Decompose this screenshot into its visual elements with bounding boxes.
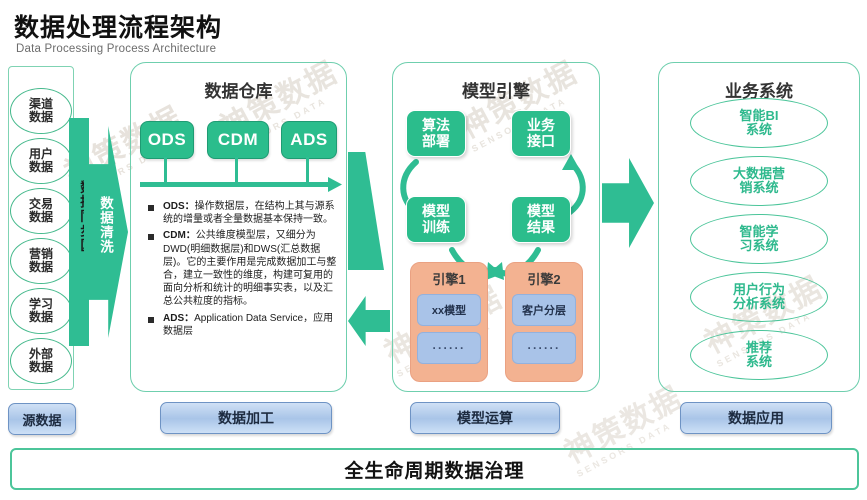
bullet-square-icon — [148, 317, 154, 323]
warehouse-layer-ads[interactable]: ADS — [281, 121, 337, 159]
business-system-3[interactable]: 用户行为分析系统 — [690, 272, 828, 322]
bullet-text: ODS：操作数据层，在结构上其与源系统的增量或者全量数据基本保持一致。 — [163, 200, 339, 226]
connector-line — [164, 157, 167, 184]
warehouse-layer-label: CDM — [218, 130, 258, 150]
engine-card-item[interactable]: ······ — [417, 332, 481, 364]
engine-step-model-result[interactable]: 模型结果 — [511, 196, 571, 243]
source-item-label: 学习数据 — [29, 298, 53, 323]
engine-card-2[interactable]: 引擎2 客户分层 ······ — [505, 262, 583, 382]
bullet-item: ADS：Application Data Service，应用数据层 — [143, 312, 339, 338]
warehouse-bullet-list: ODS：操作数据层，在结构上其与源系统的增量或者全量数据基本保持一致。 CDM：… — [143, 200, 339, 341]
source-item-4[interactable]: 学习数据 — [10, 288, 72, 334]
business-system-label: 智能BI系统 — [739, 109, 778, 136]
source-item-3[interactable]: 营销数据 — [10, 238, 72, 284]
source-item-1[interactable]: 用户数据 — [10, 138, 72, 184]
stage-button-data-processing[interactable]: 数据加工 — [160, 402, 332, 434]
timeline-axis — [140, 182, 330, 187]
engine-step-model-training[interactable]: 模型训练 — [406, 196, 466, 243]
stage-button-label: 源数据 — [22, 410, 61, 429]
business-system-label: 用户行为分析系统 — [733, 283, 785, 310]
stage-button-data-application[interactable]: 数据应用 — [680, 402, 832, 434]
business-system-0[interactable]: 智能BI系统 — [690, 98, 828, 148]
source-item-0[interactable]: 渠道数据 — [10, 88, 72, 134]
stage-button-label: 数据加工 — [218, 408, 274, 428]
connector-line — [306, 157, 309, 184]
engine-card-1[interactable]: 引擎1 xx模型 ······ — [410, 262, 488, 382]
business-system-4[interactable]: 推荐系统 — [690, 330, 828, 380]
bullet-term: ADS： — [163, 313, 194, 324]
business-system-label: 智能学习系统 — [739, 225, 778, 252]
engine-step-business-interface[interactable]: 业务接口 — [511, 110, 571, 157]
engine-card-item[interactable]: xx模型 — [417, 294, 481, 326]
page-title: 数据处理流程架构 — [14, 8, 222, 44]
connector-line — [235, 157, 238, 184]
stage-button-source-data[interactable]: 源数据 — [8, 403, 76, 435]
bullet-term: CDM： — [163, 230, 196, 241]
source-item-label: 交易数据 — [29, 198, 53, 223]
bullet-text: CDM：公共维度模型层，又细分为DWD(明细数据层)和DWS(汇总数据层)。它的… — [163, 229, 339, 308]
bullet-item: CDM：公共维度模型层，又细分为DWD(明细数据层)和DWS(汇总数据层)。它的… — [143, 229, 339, 308]
warehouse-to-engine-arrow-icon — [348, 152, 384, 270]
engine-to-warehouse-arrow-icon — [348, 296, 390, 346]
engine-step-algorithm-deploy[interactable]: 算法部署 — [406, 110, 466, 157]
bullet-square-icon — [148, 234, 154, 240]
data-cleaning-label: 数据清洗 — [88, 196, 112, 254]
engine-step-label: 模型结果 — [527, 204, 555, 235]
warehouse-layer-label: ODS — [148, 130, 186, 150]
source-item-2[interactable]: 交易数据 — [10, 188, 72, 234]
diagram-canvas: 神策数据 SENSORS DATA 神策数据 SENSORS DATA 神策数据… — [0, 0, 867, 500]
source-item-label: 外部数据 — [29, 348, 53, 373]
engine-card-title: 引擎1 — [432, 269, 465, 288]
bullet-square-icon — [148, 205, 154, 211]
warehouse-layer-label: ADS — [290, 130, 327, 150]
business-system-2[interactable]: 智能学习系统 — [690, 214, 828, 264]
stage-button-label: 模型运算 — [457, 408, 513, 428]
business-system-label: 大数据营销系统 — [733, 167, 785, 194]
governance-label: 全生命周期数据治理 — [344, 456, 524, 483]
engine-step-label: 算法部署 — [422, 118, 450, 149]
engine-to-business-arrow-icon — [602, 158, 654, 248]
warehouse-layer-cdm[interactable]: CDM — [207, 121, 269, 159]
engine-step-label: 模型训练 — [422, 204, 450, 235]
bullet-term: ODS： — [163, 201, 195, 212]
source-item-label: 营销数据 — [29, 248, 53, 273]
source-item-label: 用户数据 — [29, 148, 53, 173]
source-item-label: 渠道数据 — [29, 98, 53, 123]
stage-button-label: 数据应用 — [728, 408, 784, 428]
data-warehouse-title: 数据仓库 — [131, 77, 346, 102]
business-system-label: 推荐系统 — [746, 341, 772, 368]
source-item-5[interactable]: 外部数据 — [10, 338, 72, 384]
page-subtitle: Data Processing Process Architecture — [16, 43, 216, 55]
governance-bar: 全生命周期数据治理 — [10, 448, 859, 490]
warehouse-layer-ods[interactable]: ODS — [140, 121, 194, 159]
bullet-text: ADS：Application Data Service，应用数据层 — [163, 312, 339, 338]
engine-card-item[interactable]: 客户分层 — [512, 294, 576, 326]
bullet-item: ODS：操作数据层，在结构上其与源系统的增量或者全量数据基本保持一致。 — [143, 200, 339, 226]
engine-step-label: 业务接口 — [527, 118, 555, 149]
stage-button-model-computation[interactable]: 模型运算 — [410, 402, 560, 434]
model-engine-title: 模型引擎 — [393, 77, 599, 102]
bullet-body: 公共维度模型层，又细分为DWD(明细数据层)和DWS(汇总数据层)。它的主要作用… — [163, 230, 336, 307]
engine-card-title: 引擎2 — [527, 269, 560, 288]
business-system-1[interactable]: 大数据营销系统 — [690, 156, 828, 206]
engine-card-item[interactable]: ······ — [512, 332, 576, 364]
